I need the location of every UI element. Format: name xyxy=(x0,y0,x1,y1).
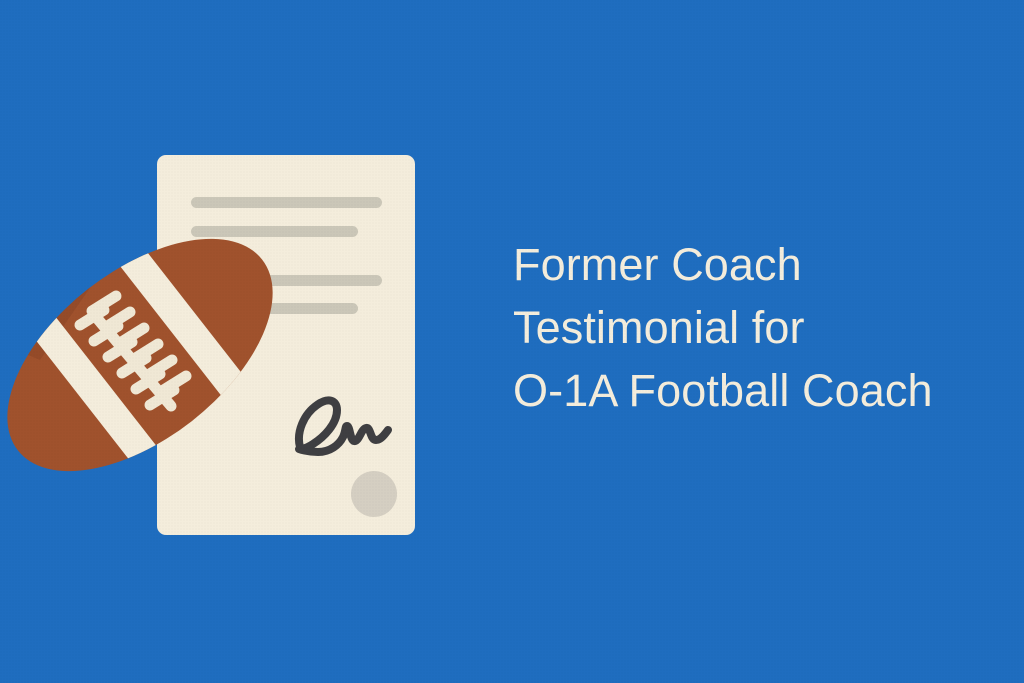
headline-line-2: Testimonial for xyxy=(513,296,993,359)
document-text-line xyxy=(191,226,358,237)
banner-canvas: Former Coach Testimonial for O-1A Footba… xyxy=(0,0,1024,683)
headline-line-3: O-1A Football Coach xyxy=(513,359,993,422)
illustration-group xyxy=(0,0,470,683)
document-text-line xyxy=(191,197,382,208)
notary-seal xyxy=(351,471,397,517)
headline-line-1: Former Coach xyxy=(513,233,993,296)
page-title: Former Coach Testimonial for O-1A Footba… xyxy=(513,233,993,422)
illustration-svg xyxy=(0,0,470,683)
